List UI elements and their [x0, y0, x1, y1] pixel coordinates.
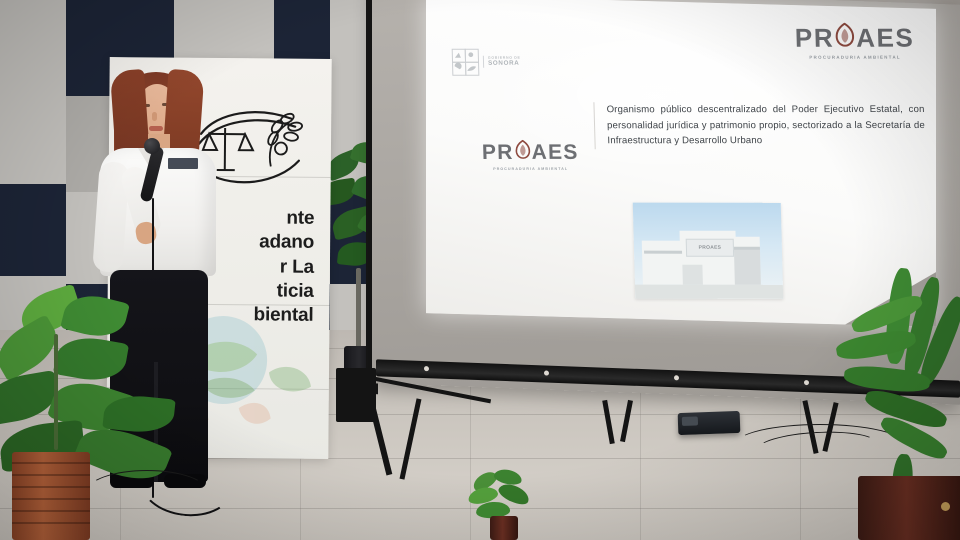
presentation-photo: nte adano r La ticia biental [0, 0, 960, 540]
leaf-shield-icon-center [514, 140, 531, 159]
gobierno-sonora-logo: GOBIERNO DE SONORA [452, 49, 521, 75]
slide-body-text: Organismo público descentralizado del Po… [593, 102, 925, 149]
proaes-logo-topright: PR AES PROCURADURIA AMBIENTAL [794, 23, 914, 60]
small-pot [490, 516, 518, 540]
slide-paragraph: Organismo público descentralizado del Po… [606, 102, 925, 149]
shirt-logo-badge [168, 158, 198, 169]
proaes-wordmark-left-center: PR [482, 141, 514, 164]
dark-square-planter [858, 476, 960, 540]
proaes-logo-center: PR AES PROCURADURIA AMBIENTAL [482, 140, 579, 171]
proaes-subtitle-center: PROCURADURIA AMBIENTAL [482, 167, 579, 171]
floor-cable-left [86, 470, 208, 514]
gob-logo-line2: SONORA [488, 60, 521, 67]
slide-building-photo: PROAES [633, 203, 783, 299]
small-plant-center [468, 470, 546, 540]
building-sign: PROAES [686, 239, 734, 257]
proaes-subtitle-topright: PROCURADURIA AMBIENTAL [795, 55, 914, 60]
building-sign-text: PROAES [699, 245, 722, 251]
proaes-wordmark-right-center: AES [531, 141, 579, 164]
projector [678, 411, 741, 435]
terracotta-ribbed-pot [12, 452, 90, 540]
leaf-shield-icon [834, 23, 855, 47]
fern-plant-right [836, 268, 960, 540]
microphone-head [144, 138, 160, 154]
proaes-wordmark-right: AES [855, 23, 914, 53]
proaes-wordmark-left: PR [794, 23, 834, 53]
sonora-state-emblem-icon [452, 49, 479, 75]
